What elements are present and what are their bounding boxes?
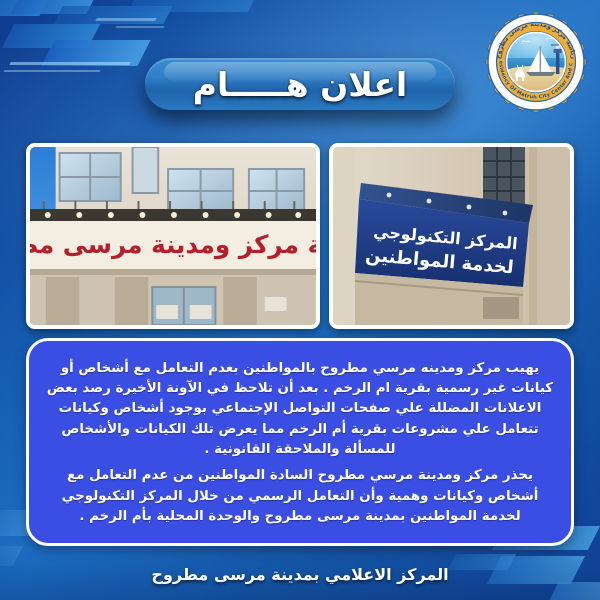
- presidency-photo-illustration: رئاسة مركز ومدينة مرسى مطروح: [30, 147, 316, 325]
- page-title: اعلان هـــــام: [193, 65, 407, 104]
- decor-diagonal-tl-5: [53, 6, 172, 24]
- decor-line-tl-2: [3, 70, 100, 72]
- footer-credit: المركز الاعلامي بمدينة مرسى مطروح: [151, 565, 448, 584]
- decor-diagonal-tl-6: [128, 0, 256, 12]
- photo-row: المركز التكنولوجي لخدمة المواطنين: [26, 143, 574, 329]
- seal-icon: رئاسة مركز ومدينة مرسى مطروح Presidency …: [482, 8, 590, 116]
- decor-line-tl-1: [9, 62, 131, 65]
- decor-line-tl-3: [95, 18, 157, 21]
- svg-text:رئاسة مركز ومدينة مرسى مطروح: رئاسة مركز ومدينة مرسى مطروح: [30, 230, 316, 260]
- decor-diagonal-tl-1: [0, 0, 53, 16]
- technology-center-sign-photo: المركز التكنولوجي لخدمة المواطنين: [329, 143, 574, 329]
- decor-diagonal-tl-4: [41, 40, 150, 66]
- decor-diagonal-tl-2: [10, 0, 101, 14]
- tech-center-photo-illustration: المركز التكنولوجي لخدمة المواطنين: [333, 147, 570, 325]
- announcement-paragraph-1: يهيب مركز ومدينه مرسي مطروح بالمواطنين ب…: [45, 359, 555, 461]
- announcement-poster: رئاسة مركز ومدينة مرسى مطروح Presidency …: [0, 0, 600, 600]
- decor-line-tl-4: [115, 26, 164, 28]
- title-pill: اعلان هـــــام: [145, 58, 455, 110]
- city-presidency-building-photo: رئاسة مركز ومدينة مرسى مطروح: [26, 143, 320, 329]
- announcement-text-box: يهيب مركز ومدينه مرسي مطروح بالمواطنين ب…: [26, 338, 574, 546]
- announcement-paragraph-2: يحذر مركز ومدينة مرسي مطروح السادة الموا…: [45, 466, 555, 527]
- decor-diagonal-tl-3: [2, 24, 100, 48]
- city-seal-logo: رئاسة مركز ومدينة مرسى مطروح Presidency …: [482, 8, 590, 116]
- footer-bar: المركز الاعلامي بمدينة مرسى مطروح: [0, 548, 600, 600]
